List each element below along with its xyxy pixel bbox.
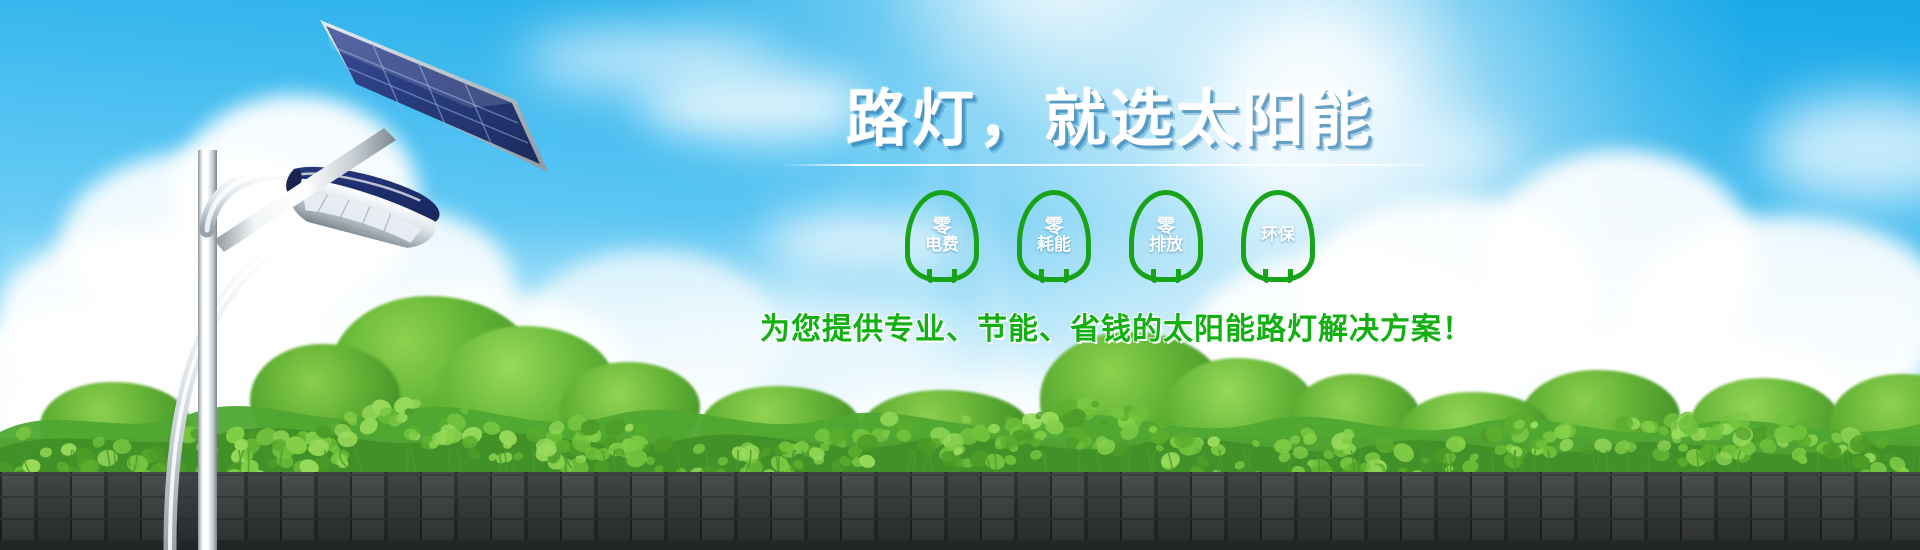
badge-text: 零 排放 [1149,217,1183,254]
badge-text: 零 耗能 [1037,217,1071,254]
badge-word-label: 耗能 [1037,237,1071,254]
feature-badge-zero-emission[interactable]: 零 排放 [1129,190,1203,282]
feature-badge-zero-energy-use[interactable]: 零 耗能 [1017,190,1091,282]
badge-zero-label: 零 [1149,217,1183,236]
badge-zero-label: 零 [1037,217,1071,236]
feature-badge-list: 零 电费 零 耗能 零 排放 [760,190,1460,282]
badge-text: 零 电费 [925,217,959,254]
badge-text: 环保 [1261,227,1295,245]
bulb-neck-icon [1039,269,1069,283]
wall-shading [0,438,1920,550]
badge-zero-label: 零 [925,217,959,236]
brick-wall [0,438,1920,550]
bulb-neck-icon [1263,269,1293,283]
badge-word-label: 电费 [925,237,959,254]
title-divider [780,164,1440,166]
tagline: 为您提供专业、节能、省钱的太阳能路灯解决方案！ [760,304,1460,348]
feature-badge-zero-electricity-cost[interactable]: 零 电费 [905,190,979,282]
solar-streetlamp-hero-banner: 路灯，就选太阳能 零 电费 零 耗能 [0,0,1920,550]
bulb-neck-icon [1151,269,1181,283]
feature-badge-eco-friendly[interactable]: 环保 [1241,190,1315,282]
bulb-neck-icon [927,269,957,283]
page-title: 路灯，就选太阳能 [760,86,1460,152]
badge-word-label: 排放 [1149,237,1183,254]
banner-content: 路灯，就选太阳能 零 电费 零 耗能 [760,86,1460,348]
badge-word-label: 环保 [1261,227,1295,245]
